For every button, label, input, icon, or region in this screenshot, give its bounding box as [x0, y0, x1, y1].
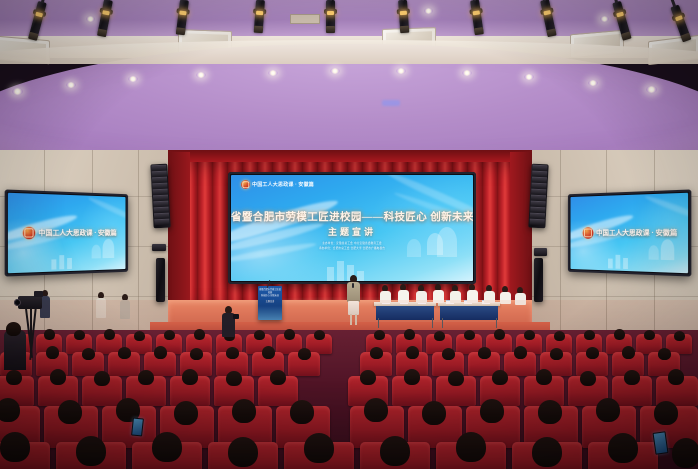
audience-head	[658, 348, 671, 360]
main-screen-subtitle: 主题宣讲	[231, 225, 473, 238]
wall-control-box-right	[534, 248, 547, 256]
audience-head	[514, 346, 527, 359]
audience-head	[226, 347, 239, 359]
audience-head	[152, 432, 182, 462]
audience-head	[668, 369, 684, 385]
stage-side-wall-left	[168, 152, 190, 312]
table-leg	[442, 318, 443, 328]
downlight	[396, 68, 406, 74]
audience-head	[492, 370, 508, 385]
audience-head	[406, 346, 419, 359]
wall-seam	[520, 296, 698, 297]
audience-head	[554, 331, 565, 341]
downlight	[86, 16, 95, 22]
audience-head	[82, 348, 95, 360]
wall-seam	[560, 150, 561, 350]
audience-head	[360, 370, 376, 385]
audience-head	[314, 330, 325, 340]
downlight	[462, 70, 472, 76]
downlight	[330, 68, 340, 74]
audience-head	[46, 346, 59, 359]
audience-head	[94, 371, 110, 386]
main-screen-brand-text: 中国工人大思政课 · 安徽篇	[252, 181, 314, 188]
audience-head	[190, 348, 203, 360]
audience-phone	[131, 417, 144, 436]
audience-head	[228, 437, 258, 467]
audience-head	[194, 329, 205, 340]
audience-head	[524, 330, 535, 340]
side-led-screen-right: 中国工人大思政课 · 安徽篇	[568, 189, 691, 276]
camera-operator	[4, 330, 26, 370]
audience-head	[262, 346, 275, 359]
audience-head	[480, 399, 504, 423]
audience-head	[0, 432, 30, 462]
loudspeaker-array-left	[150, 164, 170, 229]
audience-head	[104, 329, 115, 340]
audience-head	[44, 329, 55, 340]
audience-head	[374, 330, 385, 340]
audience-head	[226, 371, 242, 386]
audience-head	[182, 369, 198, 385]
subwoofer-left	[156, 258, 165, 302]
audience-head	[74, 330, 85, 340]
audience-head	[644, 330, 655, 340]
audience-head	[654, 401, 678, 425]
wall-seam	[138, 150, 139, 350]
presenter-leg	[355, 314, 357, 325]
audience-head	[624, 370, 640, 385]
audience-head	[550, 348, 563, 360]
main-screen-credit-line-2: 承办单位：合肥市总工会 合肥大学 合肥市广播电视台	[231, 246, 473, 250]
audience-head	[614, 329, 625, 340]
audience-head	[50, 369, 66, 385]
camera-viewfinder	[34, 291, 43, 297]
tripod-leg	[30, 308, 32, 354]
audience-head	[164, 330, 175, 340]
audience-head	[434, 331, 445, 341]
downlight	[196, 72, 206, 78]
camera-lens-icon	[14, 299, 21, 306]
emblem-icon	[241, 180, 250, 189]
emblem-icon	[23, 227, 35, 240]
audience-head	[0, 398, 20, 422]
audience-head	[370, 347, 383, 359]
presenter-leg	[350, 314, 352, 325]
audience-head	[494, 329, 505, 340]
downlight	[268, 70, 278, 76]
audience-head	[404, 369, 420, 385]
side-screen-right-brand-text: 中国工人大思政课 · 安徽篇	[596, 228, 677, 238]
audience-head	[6, 370, 22, 385]
table-leg	[432, 318, 433, 328]
panel-table-skirt	[376, 306, 434, 320]
downlight	[128, 76, 138, 82]
podium: 省暨合肥市劳模工匠进校园 科技匠心 创新未来 主题宣讲	[258, 286, 282, 320]
audience-head	[448, 371, 464, 386]
main-screen-content: 中国工人大思政课 · 安徽篇 省暨合肥市劳模工匠进校园——科技匠心 创新未来 主…	[231, 175, 473, 281]
presenter	[344, 275, 362, 327]
main-screen-credit-line-1: 主办单位：安徽省总工会 中共安徽省委教育工委	[231, 241, 473, 245]
audience-head	[422, 401, 446, 425]
downlight	[588, 80, 598, 86]
panel-table-skirt	[440, 306, 498, 320]
main-screen-title: 省暨合肥市劳模工匠进校园——科技匠心 创新未来	[231, 209, 473, 224]
audience-head	[254, 330, 265, 340]
audience-head	[596, 398, 620, 422]
stage-spotlight	[326, 0, 335, 32]
audience-head	[622, 346, 635, 359]
audience-head	[404, 329, 415, 340]
audience-head	[232, 399, 256, 423]
audience-head	[538, 400, 562, 424]
subwoofer-right	[534, 258, 543, 302]
downlight	[524, 74, 534, 80]
audience-head	[536, 369, 552, 385]
table-leg	[378, 318, 379, 328]
audience-head	[134, 331, 145, 341]
handheld-microphone	[352, 283, 354, 288]
audience-head	[478, 347, 491, 359]
audience-head	[380, 436, 410, 466]
table-leg	[496, 318, 497, 328]
side-led-screen-left: 中国工人大思政课 · 安徽篇	[5, 189, 128, 276]
ceiling-access-hatch	[290, 14, 320, 24]
audience-head	[304, 433, 334, 463]
audience-head	[154, 346, 167, 359]
audience-head	[532, 437, 562, 467]
audience-head	[608, 433, 638, 463]
audience-head	[672, 438, 698, 468]
audience-head	[118, 347, 131, 359]
downlight	[66, 82, 76, 88]
downlight	[646, 86, 657, 93]
loudspeaker-array-right	[528, 164, 548, 229]
curtain-valance	[168, 150, 532, 162]
audience-head	[442, 348, 455, 360]
camera-operator-head	[6, 322, 21, 336]
ceiling-logo-projection	[382, 100, 400, 106]
audience-head	[270, 370, 286, 385]
auditorium-photo: 中国工人大思政课 · 安徽篇 省暨合肥市劳模工匠进校园——科技匠心 创新未来 主…	[0, 0, 698, 469]
side-screen-right-content: 中国工人大思政课 · 安徽篇	[570, 193, 688, 274]
audience-head	[580, 371, 596, 386]
downlight	[600, 16, 609, 22]
audience-head	[464, 330, 475, 340]
presenter-skirt	[348, 301, 359, 315]
audience-head	[674, 331, 685, 341]
main-led-screen: 中国工人大思政课 · 安徽篇 省暨合肥市劳模工匠进校园——科技匠心 创新未来 主…	[228, 172, 476, 284]
audience-head	[174, 401, 198, 425]
audience-head	[58, 400, 82, 424]
audience-head	[76, 436, 106, 466]
audience-head	[586, 347, 599, 359]
podium-text-line-3: 主题宣讲	[259, 301, 281, 304]
audience-head	[284, 329, 295, 340]
audience-head	[138, 370, 154, 385]
audience-head	[298, 348, 311, 360]
side-screen-left-content: 中国工人大思政课 · 安徽篇	[8, 193, 126, 274]
audience-head	[584, 330, 595, 340]
wall-control-box-left	[152, 244, 166, 251]
downlight	[424, 8, 433, 14]
audience-head	[290, 400, 314, 424]
emblem-icon	[583, 227, 594, 239]
audience-head	[456, 432, 486, 462]
audience-head	[364, 398, 388, 422]
downlight	[12, 88, 23, 95]
podium-text-line-2: 科技匠心 创新未来	[259, 295, 281, 298]
side-screen-left-brand-text: 中国工人大思政课 · 安徽篇	[38, 228, 116, 238]
camera-icon	[233, 314, 239, 319]
